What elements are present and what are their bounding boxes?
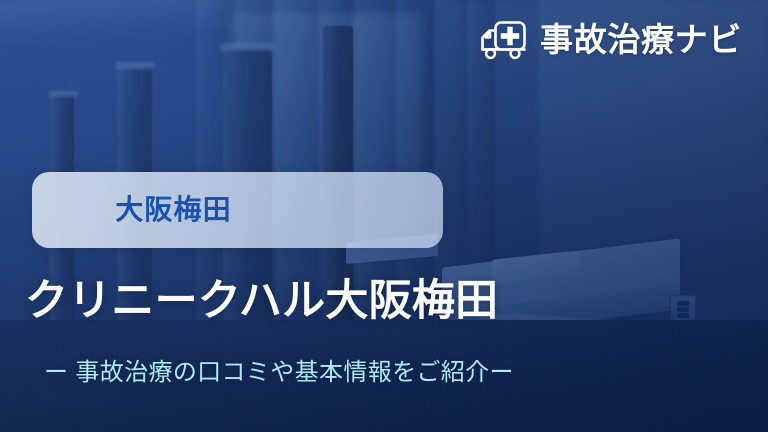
location-badge-label: 大阪梅田 xyxy=(115,196,231,224)
site-logo[interactable]: 事故治療ナビ xyxy=(477,16,742,62)
logo-text: 事故治療ナビ xyxy=(540,23,742,56)
location-badge[interactable]: 大阪梅田 xyxy=(32,172,443,248)
page-title: クリニークハル大阪梅田 xyxy=(25,277,498,325)
ambulance-icon xyxy=(477,16,529,62)
page-subtitle: ー 事故治療の口コミや基本情報をご紹介ー xyxy=(44,360,514,386)
hero-banner: 事故治療ナビ 大阪梅田 クリニークハル大阪梅田 ー 事故治療の口コミや基本情報を… xyxy=(0,0,768,432)
